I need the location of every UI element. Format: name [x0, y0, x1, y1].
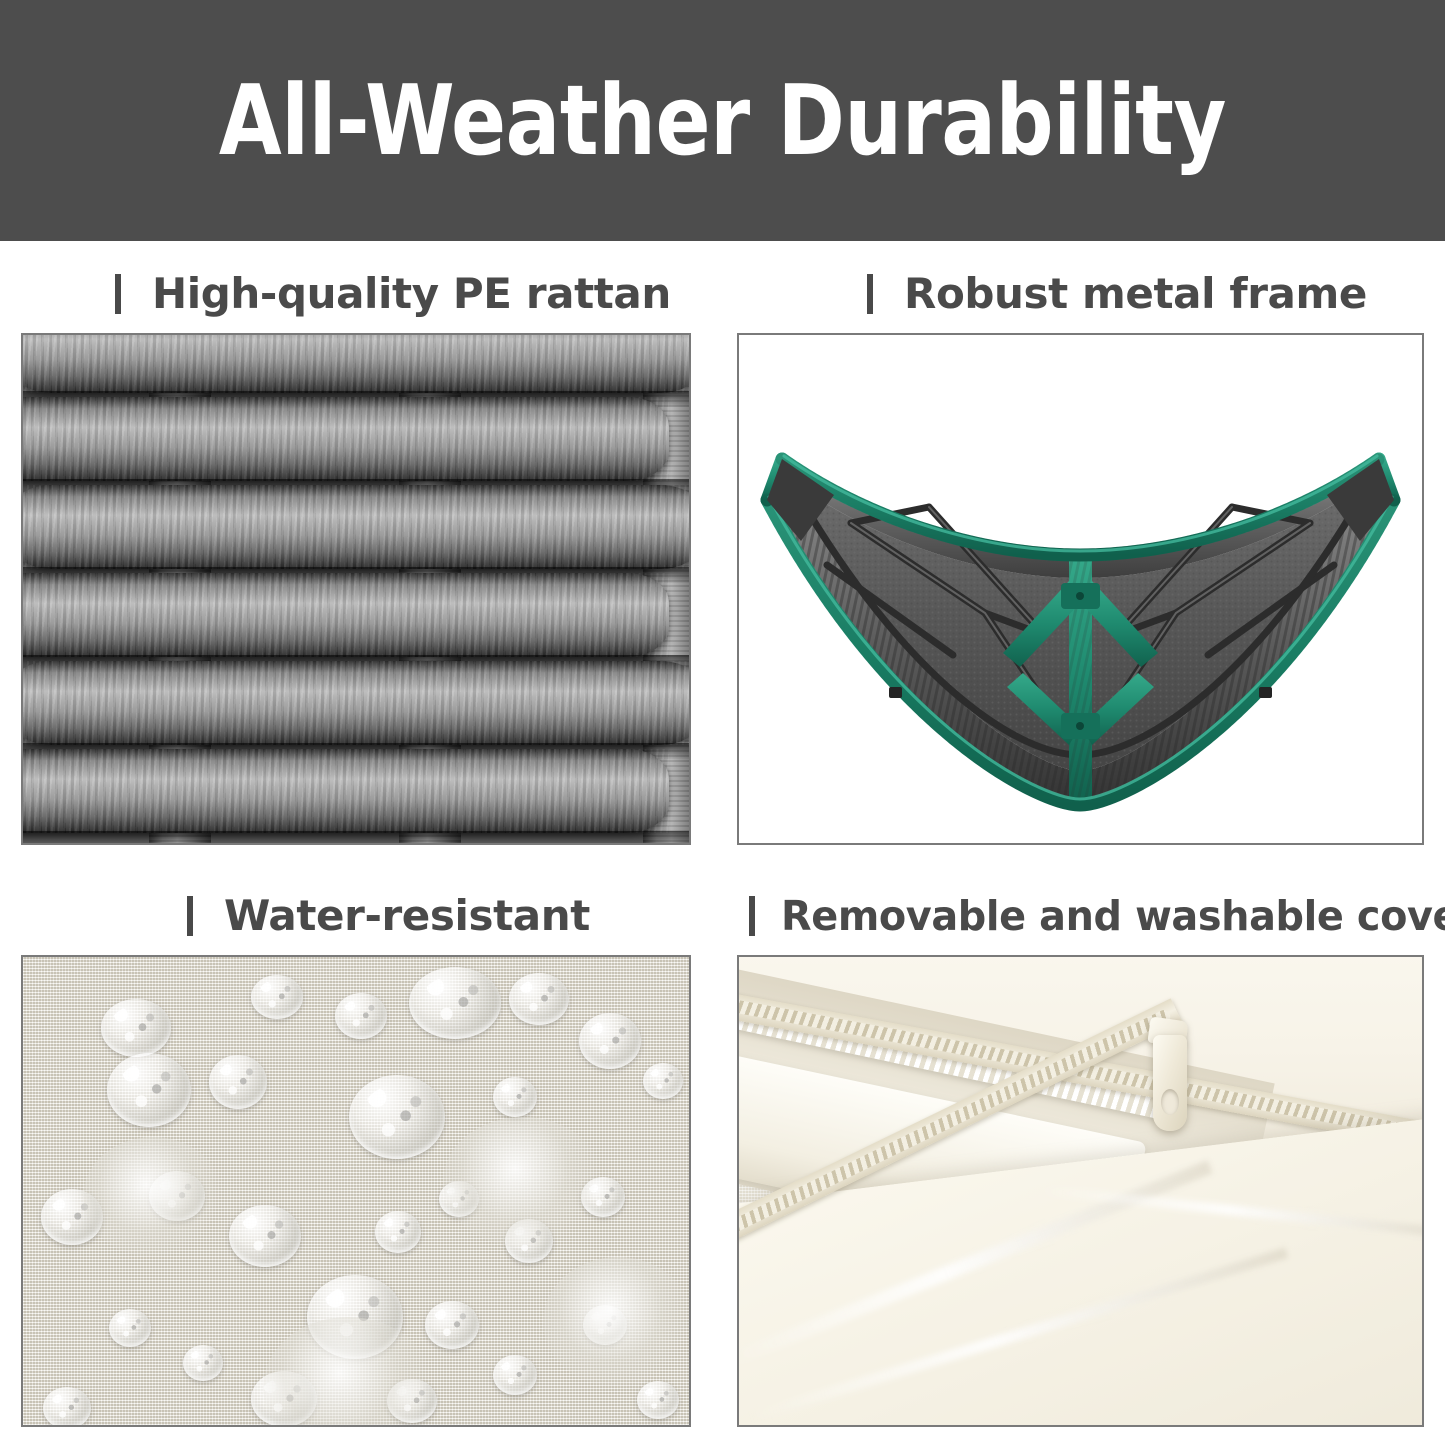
feature-label-cover: Removable and washable cover [781, 896, 1445, 937]
water-droplet [229, 1205, 301, 1267]
accent-bar-icon [867, 274, 873, 314]
feature-image-rattan [21, 333, 691, 845]
pe-rattan-weave-texture [23, 335, 689, 843]
water-droplet [425, 1301, 479, 1349]
feature-label-row-frame: Robust metal frame [737, 255, 1424, 333]
feature-label-rattan: High-quality PE rattan [152, 273, 671, 315]
feature-cell-frame: Robust metal frame [737, 255, 1424, 845]
feature-label-row-rattan: High-quality PE rattan [21, 255, 691, 333]
water-droplet [493, 1077, 537, 1117]
feature-label-row-cover: Removable and washable cover [737, 877, 1424, 955]
header-banner: All-Weather Durability [0, 0, 1445, 241]
feature-label-row-water: Water-resistant [21, 877, 691, 955]
water-droplet [637, 1381, 679, 1419]
water-droplet [643, 1063, 683, 1099]
water-droplet [209, 1055, 267, 1109]
curved-metal-frame-illustration [739, 335, 1422, 843]
water-droplet [183, 1345, 223, 1381]
water-droplet [493, 1355, 537, 1395]
water-droplet [109, 1309, 151, 1347]
cushion-cover-fabric [739, 957, 1422, 1425]
water-resistant-fabric-texture [23, 957, 689, 1425]
water-droplet [251, 975, 303, 1019]
feature-image-cover [737, 955, 1424, 1427]
feature-image-frame [737, 333, 1424, 845]
feature-image-water [21, 955, 691, 1427]
water-droplet [509, 973, 569, 1025]
feature-label-water: Water-resistant [224, 895, 590, 937]
water-droplet [375, 1211, 421, 1253]
feature-cell-water: Water-resistant [21, 877, 691, 1427]
accent-bar-icon [749, 896, 755, 936]
feature-cell-cover: Removable and washable cover [737, 877, 1424, 1427]
page-title: All-Weather Durability [219, 72, 1226, 169]
water-droplet [349, 1075, 445, 1159]
frame-clip-left [889, 687, 902, 698]
frame-clip-right [1259, 687, 1272, 698]
accent-bar-icon [187, 896, 193, 936]
water-droplet [101, 999, 171, 1057]
water-droplet [43, 1387, 91, 1427]
water-droplet [409, 967, 501, 1039]
water-droplet [107, 1053, 191, 1127]
water-droplet [335, 993, 387, 1039]
zipper-pull-hole [1161, 1089, 1179, 1115]
accent-bar-icon [115, 274, 121, 314]
feature-label-frame: Robust metal frame [904, 273, 1367, 315]
water-droplet [579, 1013, 641, 1069]
feature-cell-rattan: High-quality PE rattan [21, 255, 691, 845]
zipper-pull-tab [1153, 1035, 1187, 1131]
